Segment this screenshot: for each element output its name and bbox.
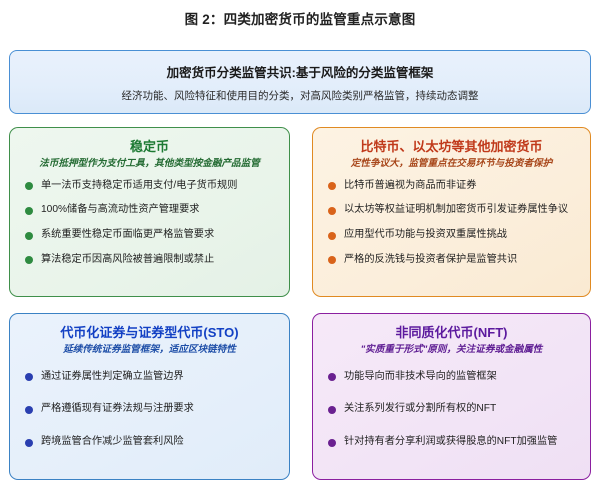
bullet-icon <box>328 373 336 381</box>
list-item-label: 以太坊等权益证明机制加密货币引发证券属性争议 <box>344 204 568 215</box>
list-item-label: 严格的反洗钱与投资者保护是监管共识 <box>344 254 517 265</box>
list-item: 比特币普遍视为商品而非证券 <box>327 180 576 193</box>
list-item-label: 应用型代币功能与投资双重属性挑战 <box>344 229 507 240</box>
quadrant-title-sto: 代币化证券与证券型代币(STO) <box>24 325 275 341</box>
quadrant-subtitle-nft: "实质重于形式"原则，关注证券或金融属性 <box>327 344 576 356</box>
list-item-label: 100%储备与高流动性资产管理要求 <box>41 204 200 215</box>
bullet-icon <box>328 182 336 190</box>
bullet-icon <box>25 182 33 190</box>
list-item: 通过证券属性判定确立监管边界 <box>24 371 275 384</box>
quadrant-nft: 非同质化代币(NFT) "实质重于形式"原则，关注证券或金融属性 功能导向而非技… <box>312 313 591 480</box>
consensus-banner: 加密货币分类监管共识:基于风险的分类监管框架 经济功能、风险特征和使用目的分类，… <box>9 50 591 114</box>
figure-title: 图 2：四类加密货币的监管重点示意图 <box>0 8 600 28</box>
list-item-label: 算法稳定币因高风险被普遍限制或禁止 <box>41 254 214 265</box>
list-item: 跨境监管合作减少监管套利风险 <box>24 436 275 449</box>
bullet-icon <box>25 439 33 447</box>
bullet-icon <box>328 207 336 215</box>
quadrant-list-sto: 通过证券属性判定确立监管边界 严格遵循现有证券法规与注册要求 跨境监管合作减少监… <box>24 371 275 449</box>
list-item: 严格的反洗钱与投资者保护是监管共识 <box>327 254 576 267</box>
banner-subtitle: 经济功能、风险特征和使用目的分类，对高风险类别严格监管，持续动态调整 <box>122 88 479 103</box>
quadrant-subtitle-btc-eth: 定性争议大，监管重点在交易环节与投资者保护 <box>327 158 576 170</box>
list-item-label: 严格遵循现有证券法规与注册要求 <box>41 403 194 414</box>
banner-title: 加密货币分类监管共识:基于风险的分类监管框架 <box>167 62 434 81</box>
bullet-icon <box>25 207 33 215</box>
list-item: 系统重要性稳定币面临更严格监管要求 <box>24 229 275 242</box>
bullet-icon <box>25 373 33 381</box>
quadrant-title-stablecoin: 稳定币 <box>24 139 275 155</box>
quadrant-title-nft: 非同质化代币(NFT) <box>327 325 576 341</box>
quadrant-stablecoin: 稳定币 法币抵押型作为支付工具，其他类型按金融产品监管 单一法币支持稳定币适用支… <box>9 127 290 297</box>
quadrant-subtitle-sto: 延续传统证券监管框架，适应区块链特性 <box>24 344 275 356</box>
list-item: 关注系列发行或分割所有权的NFT <box>327 403 576 416</box>
quadrant-sto: 代币化证券与证券型代币(STO) 延续传统证券监管框架，适应区块链特性 通过证券… <box>9 313 290 480</box>
list-item: 算法稳定币因高风险被普遍限制或禁止 <box>24 254 275 267</box>
bullet-icon <box>328 232 336 240</box>
bullet-icon <box>25 406 33 414</box>
bullet-icon <box>328 439 336 447</box>
list-item-label: 通过证券属性判定确立监管边界 <box>41 371 184 382</box>
list-item-label: 单一法币支持稳定币适用支付/电子货币规则 <box>41 180 237 191</box>
list-item: 以太坊等权益证明机制加密货币引发证券属性争议 <box>327 204 576 217</box>
list-item-label: 系统重要性稳定币面临更严格监管要求 <box>41 229 214 240</box>
list-item: 针对持有者分享利润或获得股息的NFT加强监管 <box>327 436 576 449</box>
bullet-icon <box>25 256 33 264</box>
list-item-label: 跨境监管合作减少监管套利风险 <box>41 436 184 447</box>
list-item: 单一法币支持稳定币适用支付/电子货币规则 <box>24 180 275 193</box>
list-item: 100%储备与高流动性资产管理要求 <box>24 204 275 217</box>
figure-container: 图 2：四类加密货币的监管重点示意图 加密货币分类监管共识:基于风险的分类监管框… <box>0 0 600 488</box>
list-item: 功能导向而非技术导向的监管框架 <box>327 371 576 384</box>
quadrant-title-btc-eth: 比特币、以太坊等其他加密货币 <box>327 139 576 155</box>
list-item-label: 针对持有者分享利润或获得股息的NFT加强监管 <box>344 436 557 447</box>
quadrant-btc-eth: 比特币、以太坊等其他加密货币 定性争议大，监管重点在交易环节与投资者保护 比特币… <box>312 127 591 297</box>
list-item-label: 关注系列发行或分割所有权的NFT <box>344 403 496 414</box>
list-item-label: 比特币普遍视为商品而非证券 <box>344 180 476 191</box>
list-item-label: 功能导向而非技术导向的监管框架 <box>344 371 497 382</box>
quadrant-list-nft: 功能导向而非技术导向的监管框架 关注系列发行或分割所有权的NFT 针对持有者分享… <box>327 371 576 449</box>
list-item: 应用型代币功能与投资双重属性挑战 <box>327 229 576 242</box>
bullet-icon <box>328 406 336 414</box>
bullet-icon <box>25 232 33 240</box>
quadrant-list-btc-eth: 比特币普遍视为商品而非证券 以太坊等权益证明机制加密货币引发证券属性争议 应用型… <box>327 180 576 267</box>
quadrant-list-stablecoin: 单一法币支持稳定币适用支付/电子货币规则 100%储备与高流动性资产管理要求 系… <box>24 180 275 267</box>
bullet-icon <box>328 256 336 264</box>
list-item: 严格遵循现有证券法规与注册要求 <box>24 403 275 416</box>
quadrant-subtitle-stablecoin: 法币抵押型作为支付工具，其他类型按金融产品监管 <box>24 158 275 170</box>
